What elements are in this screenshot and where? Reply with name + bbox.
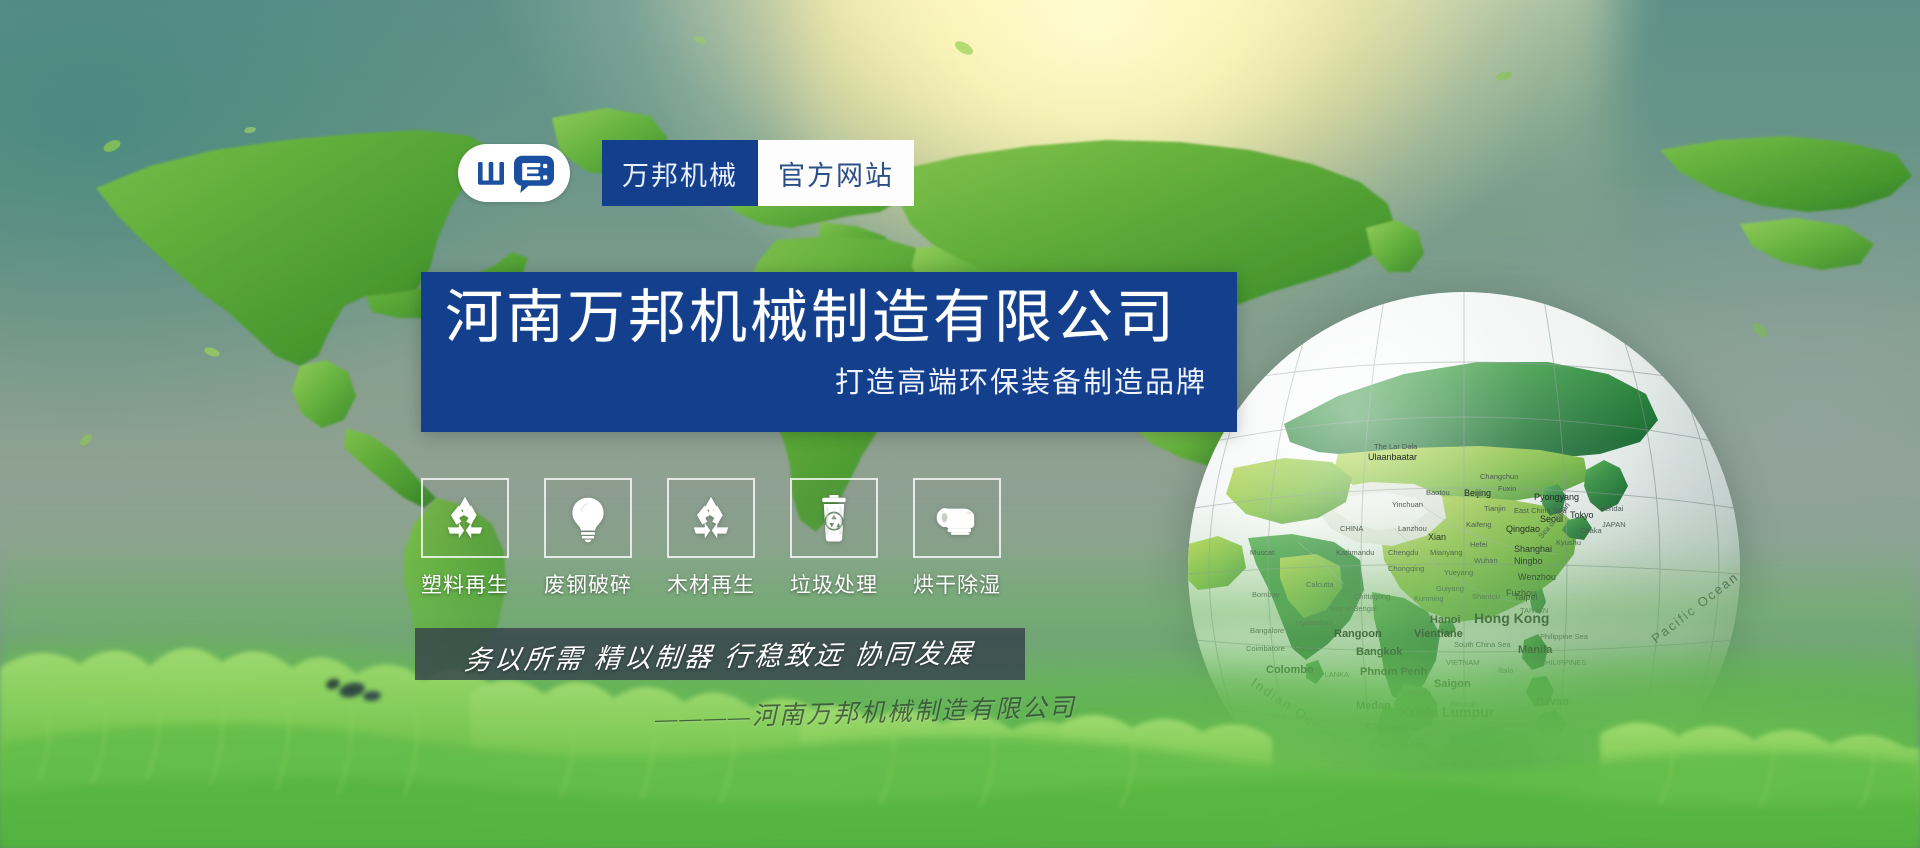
page-subtitle: 打造高端环保装备制造品牌 xyxy=(445,359,1211,401)
page-title: 河南万邦机械制造有限公司 xyxy=(445,286,1211,351)
feature-icon-box[interactable] xyxy=(544,478,632,558)
hero-title-block: 河南万邦机械制造有限公司 打造高端环保装备制造品牌 xyxy=(421,272,1237,432)
feature-item-wood-recycling[interactable]: 木材再生 xyxy=(667,478,755,599)
feature-label: 废钢破碎 xyxy=(544,569,632,599)
feature-label: 烘干除湿 xyxy=(913,569,1001,599)
lightbulb-icon xyxy=(563,493,613,543)
feature-item-waste-treatment[interactable]: 垃圾处理 xyxy=(790,478,878,599)
recycle-icon xyxy=(686,493,736,543)
logo-b-bubble xyxy=(514,153,554,193)
logo-badge[interactable] xyxy=(458,144,570,202)
hero-banner: The Lar Dala Ulaanbaatar Beijing Baotou … xyxy=(0,0,1920,848)
dryer-blower-icon xyxy=(932,493,982,543)
slogan-text: 务以所需 精以制器 行稳致远 协同发展 xyxy=(463,631,977,677)
globe-map-svg xyxy=(1188,292,1740,844)
feature-label: 垃圾处理 xyxy=(790,569,878,599)
feature-label: 塑料再生 xyxy=(421,569,509,599)
nav-site-label[interactable]: 官方网站 xyxy=(758,140,914,206)
feature-icon-box[interactable] xyxy=(790,478,878,558)
recycle-icon xyxy=(440,493,490,543)
feature-item-scrap-steel-crushing[interactable]: 废钢破碎 xyxy=(544,478,632,599)
slogan-banner: 务以所需 精以制器 行稳致远 协同发展 xyxy=(415,628,1025,680)
feature-icon-box[interactable] xyxy=(421,478,509,558)
nav-company-short[interactable]: 万邦机械 xyxy=(602,140,758,206)
globe-graphic: The Lar Dala Ulaanbaatar Beijing Baotou … xyxy=(1188,292,1740,844)
feature-label: 木材再生 xyxy=(667,569,755,599)
feature-icon-row: 塑料再生 废钢破碎 xyxy=(421,478,1001,599)
brand-navbar: 万邦机械 官方网站 xyxy=(458,140,914,206)
feature-icon-box[interactable] xyxy=(913,478,1001,558)
feature-item-drying-dehumidifying[interactable]: 烘干除湿 xyxy=(913,478,1001,599)
logo-w-mark xyxy=(474,156,508,190)
feature-item-plastic-recycling[interactable]: 塑料再生 xyxy=(421,478,509,599)
trash-bin-icon xyxy=(809,493,859,543)
feature-icon-box[interactable] xyxy=(667,478,755,558)
